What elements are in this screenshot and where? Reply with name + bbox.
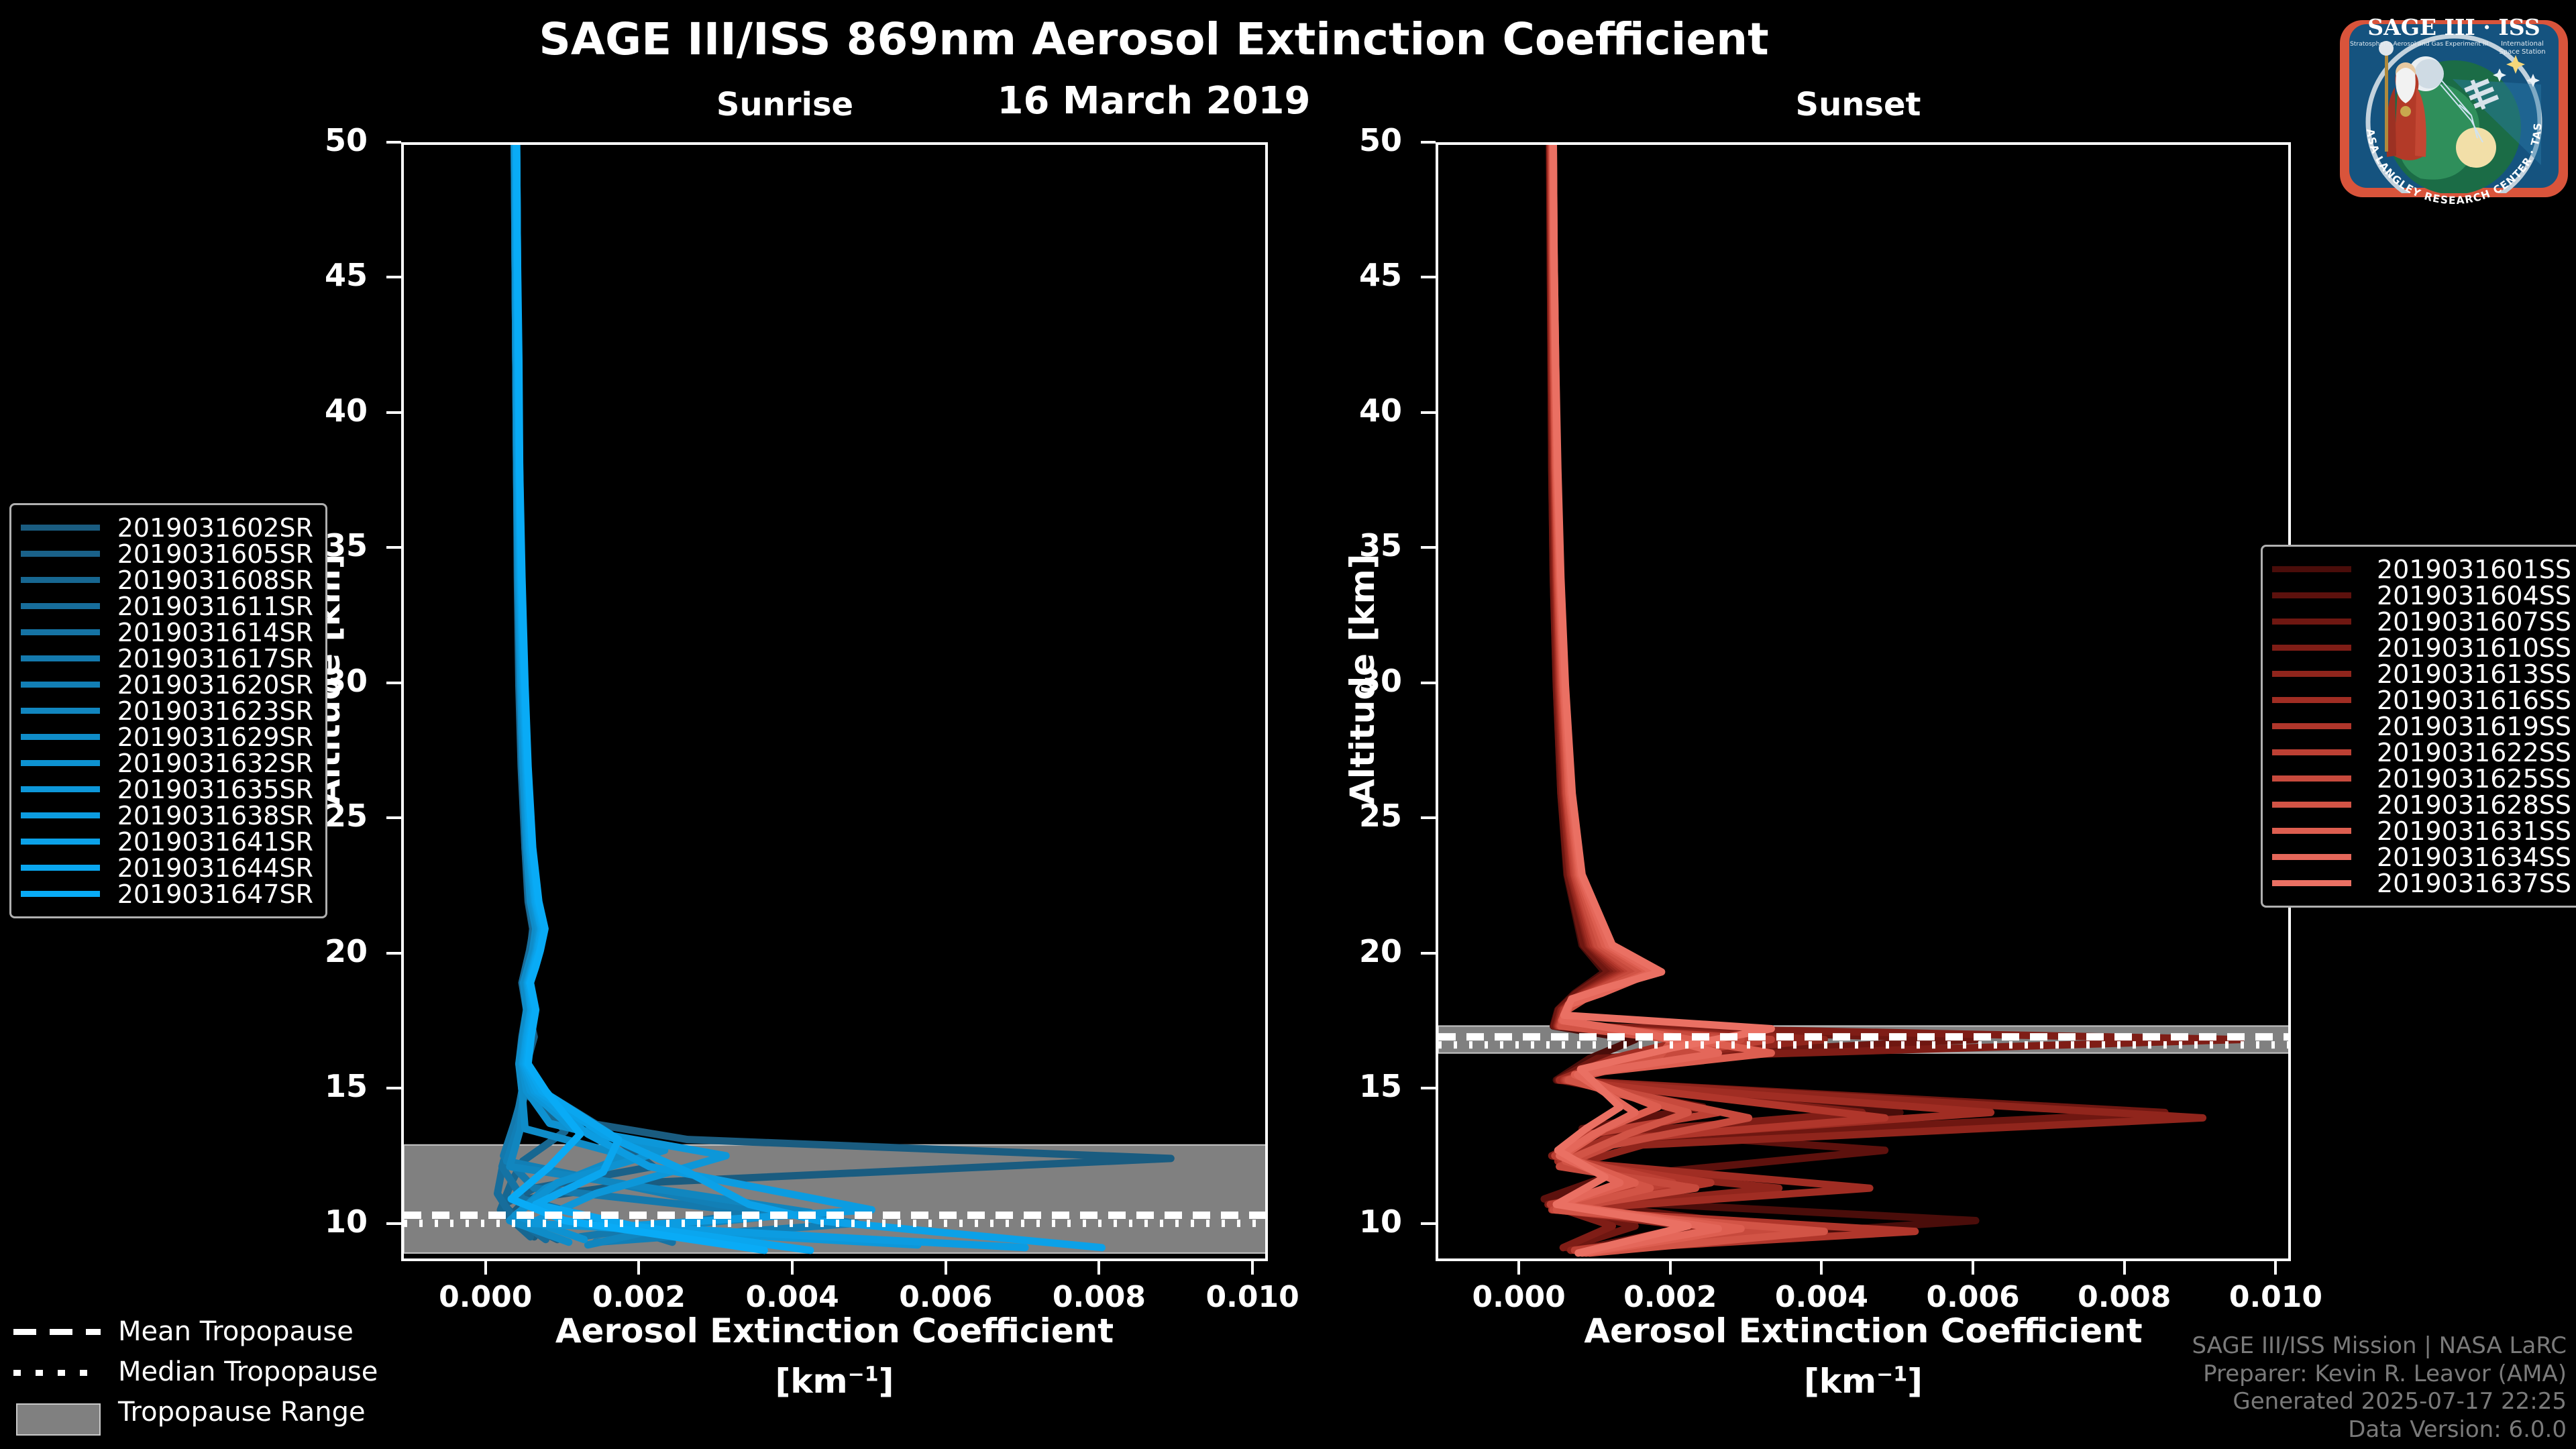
sunset-legend-label: 2019031625SS [2363, 764, 2571, 794]
sunrise-legend-label: 2019031602SR [112, 513, 313, 543]
sunset-legend-item[interactable]: 2019031619SS [2272, 713, 2571, 739]
series-line [510, 145, 810, 1245]
sunrise-legend-item[interactable]: 2019031608SR [21, 567, 313, 593]
logo-title: SAGE III · ISS [2367, 14, 2540, 40]
sunrise-legend-label: 2019031620SR [112, 670, 313, 700]
sunrise-legend-label: 2019031617SR [112, 644, 313, 674]
sunrise-legend-label: 2019031644SR [112, 853, 313, 883]
series-line [516, 145, 918, 1245]
x-tick-label: 0.000 [412, 1280, 559, 1314]
sunset-legend-color-swatch [2272, 775, 2351, 782]
sunset-panel-label: Sunset [1744, 86, 1972, 123]
sunset-legend-color-swatch [2272, 592, 2351, 598]
sunset-legend-color-swatch [2272, 723, 2351, 729]
series-line [504, 145, 757, 1237]
sunset-legend-item[interactable]: 2019031637SS [2272, 870, 2571, 896]
y-tick-label: 50 [1295, 122, 1402, 158]
sunrise-legend-color-swatch [21, 629, 100, 635]
x-tick-mark [945, 1261, 947, 1275]
sunset-legend-label: 2019031613SS [2363, 659, 2571, 689]
tropopause-legend-item: Mean Tropopause [13, 1311, 378, 1352]
sunrise-legend-item[interactable]: 2019031647SR [21, 881, 313, 907]
sunset-legend[interactable]: 2019031601SS2019031604SS2019031607SS2019… [2261, 545, 2576, 908]
sunset-legend-color-swatch [2272, 880, 2351, 886]
x-tick-label: 0.006 [1899, 1280, 2047, 1314]
x-tick-mark [637, 1261, 640, 1275]
x-tick-mark [1517, 1261, 1520, 1275]
y-tick-label: 10 [260, 1203, 368, 1240]
sunrise-legend-label: 2019031611SR [112, 592, 313, 621]
y-tick-label: 50 [260, 122, 368, 158]
sunrise-legend-label: 2019031638SR [112, 801, 313, 830]
y-tick-label: 15 [1295, 1068, 1402, 1104]
x-tick-label: 0.008 [1025, 1280, 1173, 1314]
x-tick-mark [484, 1261, 487, 1275]
y-tick-mark [1421, 546, 1436, 549]
x-tick-label: 0.000 [1445, 1280, 1593, 1314]
series-line [511, 145, 1171, 1237]
tropopause-legend-item: Median Tropopause [13, 1352, 378, 1392]
y-tick-mark [386, 816, 401, 819]
y-tick-mark [1421, 1087, 1436, 1089]
sunset-legend-label: 2019031628SS [2363, 790, 2571, 820]
x-tick-label: 0.002 [565, 1280, 712, 1314]
mean-tropopause-dash-icon [13, 1323, 101, 1340]
tropopause-legend-label: Tropopause Range [118, 1397, 366, 1428]
series-line [517, 145, 810, 1250]
sunset-legend-color-swatch [2272, 749, 2351, 755]
sunset-legend-color-swatch [2272, 802, 2351, 808]
median-tropopause-dot-icon [13, 1363, 101, 1381]
sunset-legend-label: 2019031601SS [2363, 555, 2571, 584]
sunset-legend-label: 2019031616SS [2363, 686, 2571, 715]
sunrise-legend-item[interactable]: 2019031644SR [21, 855, 313, 881]
tropopause-legend-label: Median Tropopause [118, 1356, 378, 1387]
y-tick-mark [386, 1087, 401, 1089]
sunrise-legend-color-swatch [21, 786, 100, 792]
x-tick-label: 0.006 [872, 1280, 1020, 1314]
y-tick-mark [386, 141, 401, 144]
sunrise-legend-label: 2019031605SR [112, 539, 313, 569]
x-tick-label: 0.010 [2202, 1280, 2349, 1314]
y-tick-mark [1421, 276, 1436, 278]
sunset-legend-item[interactable]: 2019031607SS [2272, 608, 2571, 635]
sunrise-legend-color-swatch [21, 577, 100, 583]
sunrise-legend-color-swatch [21, 708, 100, 714]
y-tick-mark [1421, 952, 1436, 955]
sunset-xaxis-units: [km−1] [1436, 1362, 2291, 1401]
sunrise-legend-item[interactable]: 2019031602SR [21, 515, 313, 541]
sunrise-legend-color-swatch [21, 865, 100, 871]
sunrise-plot-area [401, 142, 1268, 1261]
y-tick-mark [386, 952, 401, 955]
tropopause-range-swatch-icon [13, 1403, 101, 1421]
x-tick-mark [2274, 1261, 2277, 1275]
y-tick-mark [1421, 816, 1436, 819]
y-tick-mark [1421, 1222, 1436, 1225]
sunset-legend-color-swatch [2272, 671, 2351, 677]
sunrise-legend-label: 2019031614SR [112, 618, 313, 647]
logo-subtitle-left: Stratospheric Aerosol and Gas Experiment… [2350, 40, 2488, 48]
sunrise-legend-color-swatch [21, 525, 100, 531]
sunrise-legend-item[interactable]: 2019031605SR [21, 541, 313, 567]
sunset-legend-label: 2019031631SS [2363, 816, 2571, 846]
series-line [506, 145, 856, 1242]
x-tick-label: 0.002 [1597, 1280, 1744, 1314]
x-tick-label: 0.004 [1748, 1280, 1895, 1314]
sunset-legend-item[interactable]: 2019031634SS [2272, 844, 2571, 870]
sunrise-legend-color-swatch [21, 655, 100, 661]
y-tick-mark [386, 682, 401, 684]
series-line [517, 145, 1102, 1248]
sunset-legend-item[interactable]: 2019031601SS [2272, 556, 2571, 582]
logo-subtitle-right-1: International [2501, 40, 2544, 48]
sunrise-legend[interactable]: 2019031602SR2019031605SR2019031608SR2019… [9, 503, 327, 918]
sunset-plot-area [1436, 142, 2291, 1261]
sunrise-legend-item[interactable]: 2019031620SR [21, 672, 313, 698]
sunset-legend-item[interactable]: 2019031625SS [2272, 765, 2571, 792]
x-tick-mark [1669, 1261, 1672, 1275]
sunrise-legend-color-swatch [21, 812, 100, 818]
sunrise-legend-label: 2019031629SR [112, 722, 313, 752]
sage-iii-iss-logo: SAGE III · ISS Stratospheric Aerosol and… [2340, 4, 2568, 229]
sunrise-legend-label: 2019031641SR [112, 827, 313, 857]
footer-credits: SAGE III/ISS Mission | NASA LaRC Prepare… [2192, 1332, 2567, 1444]
sunrise-legend-item[interactable]: 2019031617SR [21, 645, 313, 672]
sunset-legend-item[interactable]: 2019031613SS [2272, 661, 2571, 687]
sunrise-legend-item[interactable]: 2019031614SR [21, 619, 313, 645]
sunset-legend-label: 2019031634SS [2363, 843, 2571, 872]
sunrise-legend-item[interactable]: 2019031638SR [21, 802, 313, 828]
page-title: SAGE III/ISS 869nm Aerosol Extinction Co… [0, 13, 2308, 65]
y-tick-label: 15 [260, 1068, 368, 1104]
footer-line-1: SAGE III/ISS Mission | NASA LaRC [2192, 1332, 2567, 1360]
sunrise-legend-label: 2019031608SR [112, 566, 313, 595]
y-tick-label: 45 [260, 257, 368, 293]
sunset-legend-item[interactable]: 2019031628SS [2272, 792, 2571, 818]
sunset-legend-color-swatch [2272, 828, 2351, 834]
y-tick-mark [386, 546, 401, 549]
tropopause-legend: Mean TropopauseMedian TropopauseTropopau… [13, 1311, 378, 1432]
x-tick-mark [1251, 1261, 1254, 1275]
sunset-legend-color-swatch [2272, 645, 2351, 651]
footer-line-3: Generated 2025-07-17 22:25 [2192, 1388, 2567, 1415]
footer-line-2: Preparer: Kevin R. Leavor (AMA) [2192, 1360, 2567, 1388]
logo-subtitle-right-2: Space Station [2499, 48, 2545, 56]
sunset-legend-label: 2019031610SS [2363, 633, 2571, 663]
series-line [511, 145, 764, 1250]
sunset-legend-label: 2019031622SS [2363, 738, 2571, 767]
sunrise-legend-color-swatch [21, 839, 100, 845]
sunrise-legend-color-swatch [21, 734, 100, 740]
sunrise-legend-item[interactable]: 2019031635SR [21, 776, 313, 802]
sunset-legend-item[interactable]: 2019031610SS [2272, 635, 2571, 661]
sunrise-legend-item[interactable]: 2019031629SR [21, 724, 313, 750]
sunrise-xaxis-units: [km−1] [401, 1362, 1268, 1401]
sunset-yaxis-title: Altitude [km] [1343, 553, 1382, 805]
sunrise-legend-color-swatch [21, 760, 100, 766]
sunset-legend-color-swatch [2272, 697, 2351, 703]
sunrise-legend-color-swatch [21, 551, 100, 557]
tropopause-legend-item: Tropopause Range [13, 1392, 378, 1432]
x-tick-label: 0.004 [718, 1280, 866, 1314]
y-tick-label: 40 [1295, 392, 1402, 429]
sunset-legend-label: 2019031607SS [2363, 607, 2571, 637]
sunset-legend-color-swatch [2272, 854, 2351, 860]
sunset-legend-color-swatch [2272, 566, 2351, 572]
sunrise-legend-item[interactable]: 2019031611SR [21, 593, 313, 619]
x-tick-label: 0.010 [1179, 1280, 1326, 1314]
sunset-legend-item[interactable]: 2019031631SS [2272, 818, 2571, 844]
sunrise-xaxis-title: Aerosol Extinction Coefficient [401, 1311, 1268, 1350]
sunrise-legend-color-swatch [21, 682, 100, 688]
y-tick-label: 40 [260, 392, 368, 429]
x-tick-mark [2123, 1261, 2126, 1275]
series-line [516, 145, 1025, 1248]
footer-line-4: Data Version: 6.0.0 [2192, 1416, 2567, 1444]
tropopause-legend-label: Mean Tropopause [118, 1316, 354, 1347]
y-tick-mark [386, 1222, 401, 1225]
y-tick-mark [1421, 682, 1436, 684]
sunrise-legend-label: 2019031647SR [112, 879, 313, 909]
sunrise-legend-item[interactable]: 2019031632SR [21, 750, 313, 776]
x-tick-mark [1972, 1261, 1974, 1275]
sunset-legend-label: 2019031637SS [2363, 869, 2571, 898]
sunset-legend-color-swatch [2272, 619, 2351, 625]
y-tick-label: 45 [1295, 257, 1402, 293]
sunrise-legend-item[interactable]: 2019031641SR [21, 828, 313, 855]
y-tick-mark [1421, 411, 1436, 414]
y-tick-mark [386, 276, 401, 278]
sunrise-legend-color-swatch [21, 891, 100, 897]
y-tick-label: 10 [1295, 1203, 1402, 1240]
x-tick-mark [791, 1261, 794, 1275]
sunset-legend-item[interactable]: 2019031616SS [2272, 687, 2571, 713]
sunset-xaxis-title: Aerosol Extinction Coefficient [1436, 1311, 2291, 1350]
sunset-legend-label: 2019031604SS [2363, 581, 2571, 610]
sunset-legend-label: 2019031619SS [2363, 712, 2571, 741]
x-tick-mark [1097, 1261, 1100, 1275]
sunrise-legend-item[interactable]: 2019031623SR [21, 698, 313, 724]
sunset-legend-item[interactable]: 2019031604SS [2272, 582, 2571, 608]
sunset-legend-item[interactable]: 2019031622SS [2272, 739, 2571, 765]
sunrise-panel-label: Sunrise [671, 86, 899, 123]
x-tick-label: 0.008 [2051, 1280, 2198, 1314]
sunrise-legend-label: 2019031635SR [112, 775, 313, 804]
y-tick-mark [1421, 141, 1436, 144]
y-tick-label: 20 [1295, 933, 1402, 969]
y-tick-label: 20 [260, 933, 368, 969]
sunrise-legend-label: 2019031632SR [112, 749, 313, 778]
sunrise-legend-color-swatch [21, 603, 100, 609]
sunrise-legend-label: 2019031623SR [112, 696, 313, 726]
y-tick-mark [386, 411, 401, 414]
x-tick-mark [1820, 1261, 1823, 1275]
